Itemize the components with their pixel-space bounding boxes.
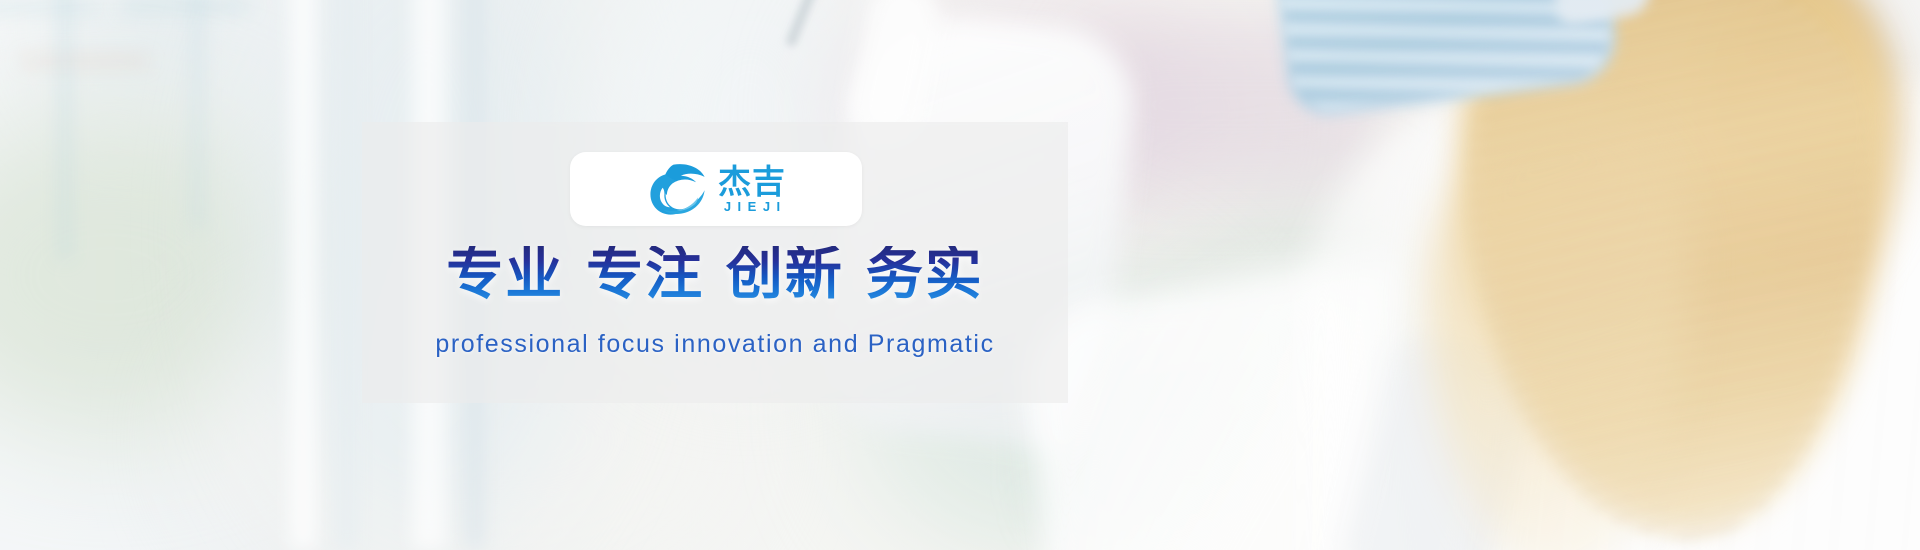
- banner-subtitle: professional focus innovation and Pragma…: [362, 330, 1068, 359]
- brand-logo-plate[interactable]: 杰吉 JIEJI: [570, 152, 862, 226]
- jieji-swirl-logo-icon: [645, 161, 707, 217]
- banner-headline: 专业 专注 创新 务实: [362, 246, 1068, 303]
- hero-banner: 杰吉 JIEJI 专业 专注 创新 务实 professional focus …: [0, 0, 1920, 550]
- brand-wordmark: 杰吉 JIEJI: [717, 165, 786, 213]
- brand-name-cn: 杰吉: [718, 165, 786, 198]
- brand-name-en: JIEJI: [717, 200, 786, 213]
